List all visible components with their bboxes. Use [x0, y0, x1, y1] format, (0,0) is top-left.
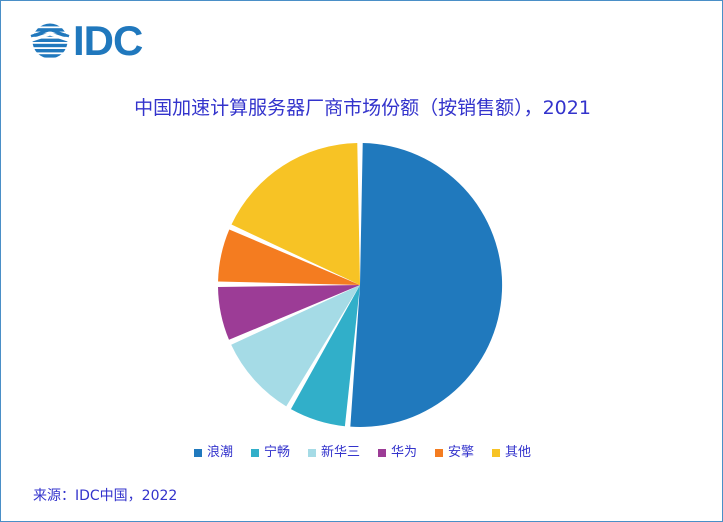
legend-label: 其他 [505, 446, 531, 459]
legend-item-5[interactable]: 其他 [492, 446, 531, 459]
source-note: 来源：IDC中国，2022 [33, 485, 177, 505]
legend-label: 宁畅 [264, 446, 290, 459]
legend-label: 新华三 [321, 446, 360, 459]
legend-swatch-icon [378, 449, 386, 457]
legend-label: 华为 [391, 446, 417, 459]
pie-chart-svg [217, 142, 503, 428]
pie-chart [217, 142, 503, 428]
legend-swatch-icon [492, 449, 500, 457]
legend-item-0[interactable]: 浪潮 [194, 446, 233, 459]
legend-swatch-icon [308, 449, 316, 457]
slide-canvas: IDC 中国加速计算服务器厂商市场份额（按销售额），2021 浪潮宁畅新华三华为… [0, 0, 723, 522]
legend-label: 安擎 [448, 446, 474, 459]
legend-swatch-icon [435, 449, 443, 457]
idc-logo-text: IDC [73, 20, 142, 62]
pie-slice-group [218, 143, 502, 427]
chart-legend: 浪潮宁畅新华三华为安擎其他 [1, 446, 723, 459]
legend-item-1[interactable]: 宁畅 [251, 446, 290, 459]
legend-swatch-icon [194, 449, 202, 457]
pie-slice-0[interactable] [350, 143, 502, 427]
page-title: 中国加速计算服务器厂商市场份额（按销售额），2021 [1, 93, 723, 120]
legend-item-2[interactable]: 新华三 [308, 446, 360, 459]
idc-logo: IDC [29, 19, 142, 63]
legend-item-4[interactable]: 安擎 [435, 446, 474, 459]
legend-item-3[interactable]: 华为 [378, 446, 417, 459]
legend-swatch-icon [251, 449, 259, 457]
legend-label: 浪潮 [207, 446, 233, 459]
striped-globe-icon [29, 20, 71, 62]
